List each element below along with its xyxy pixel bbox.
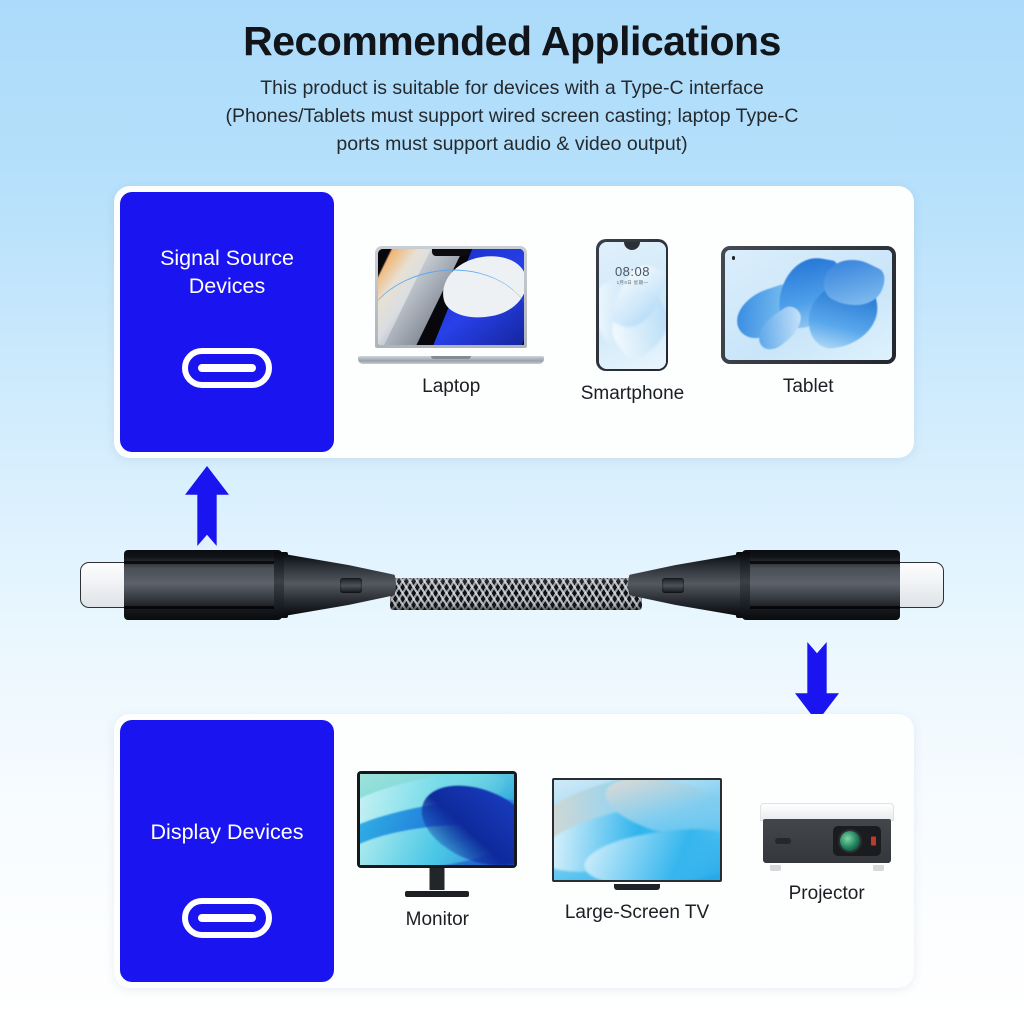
subtitle-line-2: (Phones/Tablets must support wired scree… xyxy=(132,103,892,131)
connector-grip-dimple xyxy=(340,578,362,593)
projector-vent xyxy=(775,838,791,844)
cable-connector-left xyxy=(78,528,398,640)
monitor-icon xyxy=(357,771,517,897)
device-label-tv: Large-Screen TV xyxy=(565,902,709,924)
connector-tip xyxy=(80,562,128,608)
device-tv: Large-Screen TV xyxy=(552,778,722,924)
connector-shell xyxy=(742,550,900,620)
tablet-wallpaper xyxy=(725,250,892,360)
monitor-wallpaper xyxy=(360,774,514,865)
tablet-body xyxy=(721,246,896,364)
monitor-screen xyxy=(360,774,514,865)
connector-strain-relief xyxy=(628,554,740,616)
tv-icon xyxy=(552,778,722,890)
laptop-lid xyxy=(375,246,527,348)
signal-source-panel-label: Signal Source Devices xyxy=(127,244,327,301)
smartphone-screen: 08:08 1月8日 星期一 xyxy=(599,242,666,369)
laptop-wallpaper xyxy=(378,249,524,345)
page-subtitle: This product is suitable for devices wit… xyxy=(132,75,892,158)
device-label-smartphone: Smartphone xyxy=(581,383,685,405)
projector-foot-right xyxy=(873,865,884,871)
page-title: Recommended Applications xyxy=(0,18,1024,65)
device-label-monitor: Monitor xyxy=(406,909,469,931)
device-laptop: Laptop xyxy=(358,246,544,398)
device-monitor: Monitor xyxy=(357,771,517,931)
tv-body xyxy=(552,778,722,882)
projector-foot-left xyxy=(770,865,781,871)
projector-lens-icon xyxy=(833,826,881,856)
connector-tip xyxy=(896,562,944,608)
display-devices-panel-label: Display Devices xyxy=(127,818,327,846)
tablet-icon xyxy=(721,246,896,364)
display-device-list: Monitor Large-Screen TV xyxy=(340,714,914,988)
subtitle-line-3: ports must support audio & video output) xyxy=(132,131,892,159)
tablet-screen xyxy=(725,250,892,360)
projector-body xyxy=(763,819,891,863)
tablet-camera-icon xyxy=(732,256,736,260)
tv-wallpaper xyxy=(554,780,720,880)
laptop-base xyxy=(358,356,544,364)
smartphone-clock: 08:08 xyxy=(599,264,666,279)
cable-connector-right xyxy=(626,528,946,640)
laptop-screen xyxy=(378,249,524,345)
cable-braided-sleeve xyxy=(390,578,642,610)
device-label-projector: Projector xyxy=(789,883,865,905)
header: Recommended Applications This product is… xyxy=(0,18,1024,158)
device-label-laptop: Laptop xyxy=(422,376,480,398)
device-label-tablet: Tablet xyxy=(783,376,834,398)
projector-icon xyxy=(757,797,897,871)
arrow-down-icon xyxy=(795,642,839,722)
display-devices-panel: Display Devices xyxy=(120,720,334,982)
device-projector: Projector xyxy=(757,797,897,905)
laptop-notch xyxy=(432,249,470,256)
device-tablet: Tablet xyxy=(721,246,896,398)
connector-grip-dimple xyxy=(662,578,684,593)
display-devices-card: Display Devices xyxy=(114,714,914,988)
signal-source-card: Signal Source Devices xyxy=(114,186,914,458)
tv-stand xyxy=(614,884,660,890)
usb-c-cable xyxy=(78,528,946,640)
laptop-icon xyxy=(358,246,544,364)
source-device-list: Laptop 08:08 1月8日 星期一 xyxy=(340,186,914,458)
monitor-stand-base xyxy=(405,891,469,897)
smartphone-date: 1月8日 星期一 xyxy=(599,280,666,286)
monitor-head xyxy=(357,771,517,868)
smartphone-icon: 08:08 1月8日 星期一 xyxy=(596,239,668,371)
smartphone-body: 08:08 1月8日 星期一 xyxy=(596,239,668,371)
subtitle-line-1: This product is suitable for devices wit… xyxy=(132,75,892,103)
tv-screen xyxy=(554,780,720,880)
monitor-stand-neck xyxy=(430,868,445,890)
connector-shell xyxy=(124,550,282,620)
usb-c-port-icon xyxy=(182,898,272,938)
signal-source-panel: Signal Source Devices xyxy=(120,192,334,452)
smartphone-wallpaper xyxy=(599,242,666,369)
device-smartphone: 08:08 1月8日 星期一 Smartphone xyxy=(581,239,685,405)
usb-c-port-icon xyxy=(182,348,272,388)
